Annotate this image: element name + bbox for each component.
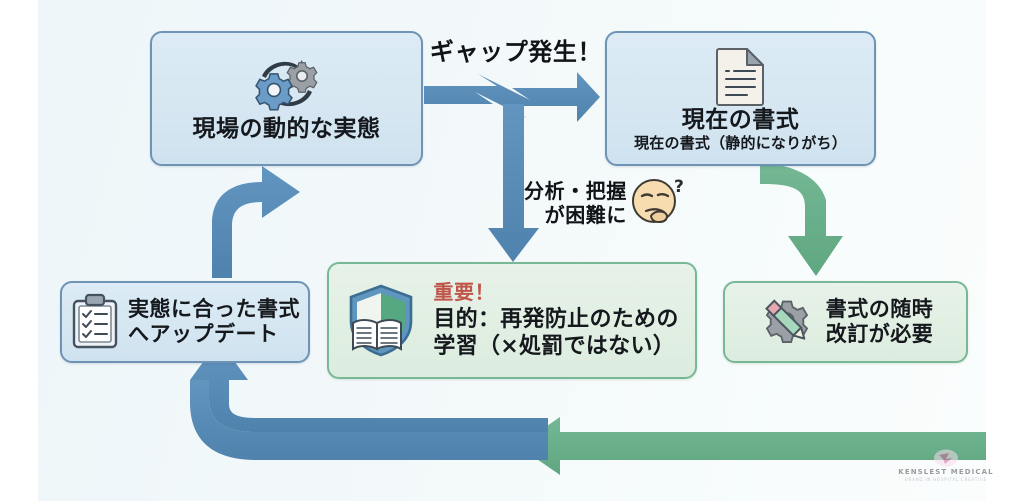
node-current-form[interactable]: 現在の書式 現在の書式（静的になりがち） (605, 31, 876, 166)
document-icon (713, 45, 769, 107)
gears-cycle-icon (244, 54, 330, 116)
watermark-tagline: BRAND IN HOSPITAL CREATIVE (905, 477, 987, 482)
node-current-form-sublabel: 現在の書式（静的になりがち） (634, 135, 847, 153)
diagram-canvas: 現場の動的な実態 現在の書式 現在の書式（静的になりがち） (0, 0, 1024, 501)
connector-label-difficulty: 分析・把握 が困難に (524, 179, 627, 227)
gear-pencil-icon (758, 294, 816, 350)
shield-book-icon (345, 281, 419, 359)
node-reality-label: 現場の動的な実態 (193, 116, 381, 143)
node-revision-line1: 書式の随時 (826, 297, 934, 322)
svg-text:?: ? (674, 177, 684, 197)
node-purpose[interactable]: 重要！ 目的：再発防止のための 学習（×処罰ではない） (327, 262, 697, 379)
watermark: KENSLEST MEDICAL BRAND IN HOSPITAL CREAT… (898, 449, 994, 482)
node-update[interactable]: 実態に合った書式 へアップデート (60, 281, 310, 363)
node-update-line2: へアップデート (128, 322, 279, 347)
watermark-name: KENSLEST MEDICAL (898, 468, 993, 476)
connector-difficulty-group: 分析・把握 が困難に ? (524, 176, 687, 230)
clipboard-check-icon (70, 293, 120, 351)
thinking-face-icon: ? (629, 176, 687, 230)
node-reality[interactable]: 現場の動的な実態 (150, 31, 423, 166)
bird-logo-icon (933, 449, 959, 468)
node-revision-line2: 改訂が必要 (826, 322, 934, 347)
node-purpose-line1: 目的：再発防止のための (433, 306, 678, 333)
node-revision[interactable]: 書式の随時 改訂が必要 (723, 281, 968, 363)
connector-label-gap: ギャップ発生！ (426, 38, 606, 67)
node-update-line1: 実態に合った書式 (128, 297, 300, 322)
curved-arrow-up-icon (212, 166, 300, 278)
node-purpose-line2: 学習（×処罰ではない） (433, 333, 675, 360)
curved-arrow-down-icon (760, 163, 843, 276)
node-current-form-label: 現在の書式 (682, 107, 800, 134)
node-purpose-important: 重要！ (433, 280, 495, 305)
